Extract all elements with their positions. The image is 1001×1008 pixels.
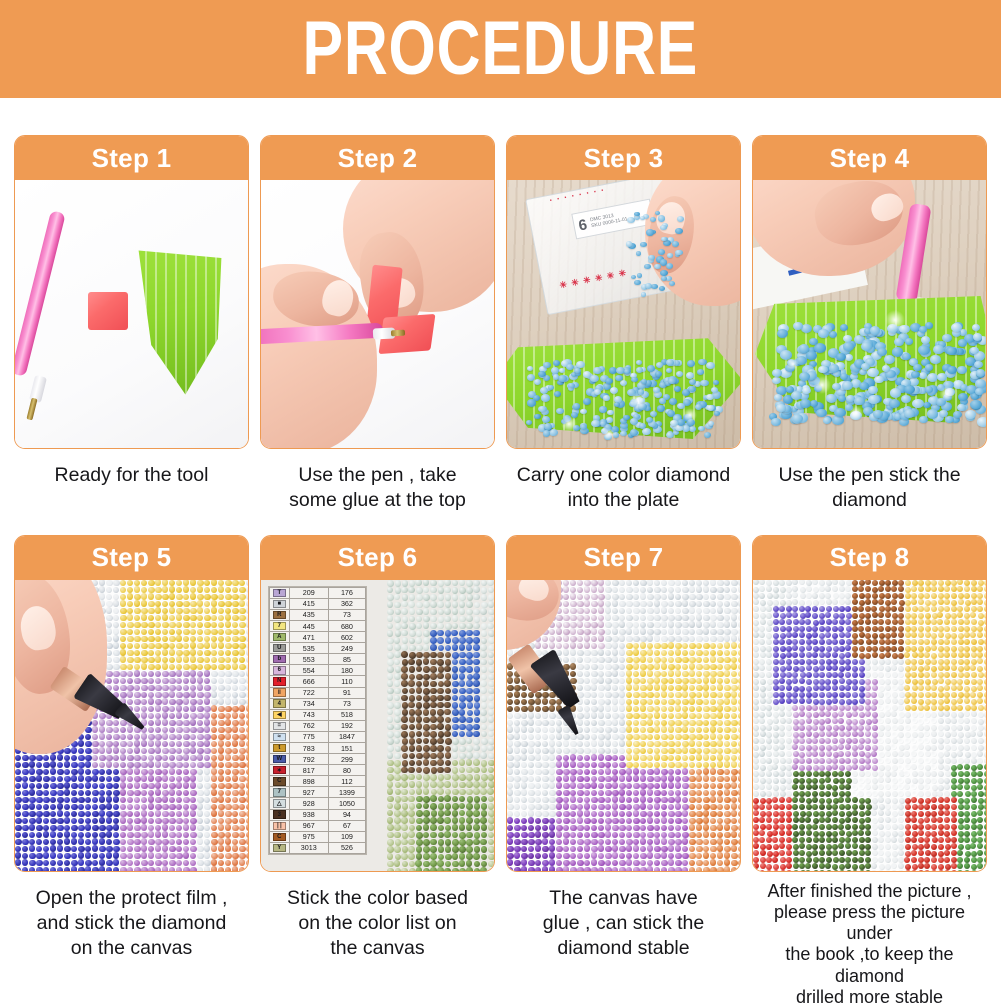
mosaic-bead <box>190 734 196 740</box>
mosaic-bead <box>806 665 812 671</box>
mosaic-bead <box>169 727 175 733</box>
mosaic-bead <box>50 804 56 810</box>
mosaic-bead <box>169 846 175 852</box>
mosaic-bead <box>826 665 832 671</box>
mosaic-bead <box>481 674 488 681</box>
mosaic-bead <box>689 762 695 768</box>
mosaic-bead <box>806 600 812 606</box>
mosaic-bead <box>416 825 423 832</box>
mosaic-bead <box>402 637 409 644</box>
mosaic-bead <box>71 755 77 761</box>
mosaic-bead <box>134 664 140 670</box>
mosaic-bead <box>169 649 175 655</box>
mosaic-bead <box>984 593 986 599</box>
mosaic-bead <box>710 621 716 627</box>
mosaic-bead <box>127 818 133 824</box>
mosaic-bead <box>71 783 77 789</box>
mosaic-bead <box>918 639 924 645</box>
mosaic-bead <box>598 586 604 592</box>
color-count-cell: 110 <box>328 676 365 687</box>
mosaic-bead <box>120 629 126 635</box>
mosaic-bead <box>218 853 224 859</box>
mosaic-bead <box>120 608 126 614</box>
mosaic-bead <box>452 717 459 724</box>
mosaic-bead <box>183 656 189 662</box>
mosaic-bead <box>127 755 133 761</box>
mosaic-bead <box>29 824 35 830</box>
mosaic-bead <box>773 646 779 652</box>
mosaic-bead <box>703 762 709 768</box>
mosaic-bead <box>445 630 452 637</box>
step-4-photo <box>753 180 986 448</box>
step-5-card-frame: Step 5 <box>14 535 249 872</box>
mosaic-bead <box>190 636 196 642</box>
mosaic-bead <box>710 846 716 852</box>
step-card-2: Step 2 Use the pen , take <box>260 135 495 514</box>
mosaic-bead <box>466 724 473 731</box>
mosaic-bead <box>918 659 924 665</box>
mosaic-bead <box>661 734 667 740</box>
mosaic-bead <box>162 775 168 781</box>
mosaic-bead <box>438 681 445 688</box>
diamond-bead <box>620 431 626 436</box>
mosaic-bead <box>155 629 161 635</box>
mosaic-bead <box>845 645 851 651</box>
mosaic-bead <box>438 803 445 810</box>
color-list-row: R43573 <box>270 609 366 620</box>
mosaic-bead <box>654 594 660 600</box>
mosaic-bead <box>773 580 779 586</box>
mosaic-bead <box>430 860 437 867</box>
mosaic-bead <box>549 699 555 705</box>
mosaic-bead <box>710 825 716 831</box>
mosaic-bead <box>724 615 730 621</box>
mosaic-bead <box>647 670 653 676</box>
mosaic-bead <box>141 852 147 858</box>
mosaic-bead <box>912 652 918 658</box>
mosaic-bead <box>612 670 618 676</box>
mosaic-bead <box>584 586 590 592</box>
mosaic-bead <box>633 587 639 593</box>
mosaic-bead <box>577 748 583 754</box>
mosaic-bead <box>29 811 35 817</box>
mosaic-bead <box>689 663 695 669</box>
mosaic-bead <box>408 601 415 608</box>
mosaic-bead <box>430 644 437 651</box>
mosaic-bead <box>113 594 119 600</box>
mosaic-bead <box>661 741 667 747</box>
mosaic-bead <box>211 825 217 831</box>
mosaic-bead <box>473 644 480 651</box>
mosaic-bead <box>753 613 759 619</box>
mosaic-bead <box>977 652 983 658</box>
mosaic-bead <box>717 636 723 642</box>
mosaic-bead <box>549 768 555 774</box>
mosaic-bead <box>176 790 182 796</box>
mosaic-bead <box>535 727 541 733</box>
mosaic-bead <box>169 818 175 824</box>
mosaic-bead <box>549 818 555 824</box>
mosaic-bead <box>738 671 740 677</box>
mosaic-bead <box>724 635 730 641</box>
mosaic-bead <box>162 831 168 837</box>
mosaic-bead <box>682 734 688 740</box>
mosaic-bead <box>127 783 133 789</box>
mosaic-bead <box>459 637 466 644</box>
mosaic-bead <box>239 649 245 655</box>
mosaic-bead <box>141 845 147 851</box>
mosaic-bead <box>430 716 437 723</box>
mosaic-bead <box>731 587 737 593</box>
color-list-row: ■415362 <box>270 598 366 609</box>
mosaic-bead <box>113 671 119 677</box>
mosaic-bead <box>155 664 161 670</box>
mosaic-bead <box>633 810 639 816</box>
mosaic-bead <box>521 762 527 768</box>
mosaic-bead <box>387 623 394 630</box>
mosaic-bead <box>633 706 639 712</box>
mosaic-bead <box>15 839 21 845</box>
mosaic-bead <box>204 734 210 740</box>
mosaic-bead <box>176 664 182 670</box>
mosaic-bead <box>633 825 639 831</box>
mosaic-bead <box>668 650 674 656</box>
mosaic-bead <box>401 781 408 788</box>
mosaic-bead <box>703 636 709 642</box>
mosaic-bead <box>612 727 618 733</box>
pen-tip-icon <box>391 330 405 337</box>
mosaic-bead <box>225 748 231 754</box>
mosaic-bead <box>786 652 792 658</box>
mosaic-bead <box>605 818 611 824</box>
mosaic-bead <box>64 825 70 831</box>
page-title: PROCEDURE <box>303 11 699 87</box>
mosaic-bead <box>430 846 437 853</box>
mosaic-bead <box>925 619 931 625</box>
mosaic-bead <box>865 580 871 586</box>
mosaic-bead <box>183 720 189 726</box>
mosaic-bead <box>141 699 147 705</box>
mosaic-bead <box>951 600 957 606</box>
mosaic-bead <box>696 832 702 838</box>
diamond-bead <box>832 383 841 390</box>
mosaic-bead <box>605 622 611 628</box>
mosaic-bead <box>654 818 660 824</box>
mosaic-bead <box>387 587 394 594</box>
mosaic-bead <box>556 831 562 837</box>
mosaic-bead <box>984 606 986 612</box>
mosaic-bead <box>825 632 831 638</box>
mosaic-bead <box>190 656 196 662</box>
mosaic-bead <box>197 600 203 606</box>
mosaic-bead <box>387 788 394 795</box>
mosaic-bead <box>148 678 154 684</box>
mosaic-bead <box>542 748 548 754</box>
mosaic-bead <box>481 594 488 601</box>
mosaic-bead <box>619 635 625 641</box>
mosaic-bead <box>459 652 466 659</box>
mosaic-bead <box>710 636 716 642</box>
mosaic-bead <box>570 608 576 614</box>
mosaic-bead <box>141 817 147 823</box>
mosaic-bead <box>535 845 541 851</box>
mosaic-bead <box>839 593 845 599</box>
mosaic-bead <box>225 797 231 803</box>
mosaic-bead <box>197 818 203 824</box>
mosaic-bead <box>619 601 625 607</box>
mosaic-bead <box>473 652 480 659</box>
mosaic-bead <box>466 738 473 745</box>
mosaic-bead <box>401 853 408 860</box>
diamond-bead <box>600 421 606 426</box>
mosaic-bead <box>605 811 611 817</box>
mosaic-bead <box>444 817 451 824</box>
mosaic-bead <box>162 719 168 725</box>
mosaic-bead <box>148 601 154 607</box>
mosaic-bead <box>647 741 653 747</box>
mosaic-bead <box>78 867 84 871</box>
mosaic-bead <box>865 619 871 625</box>
mosaic-bead <box>71 762 77 768</box>
mosaic-bead <box>924 652 930 658</box>
mosaic-bead <box>416 594 423 601</box>
steps-row-1: Step 1 Ready for the tool Step 2 <box>0 135 1001 514</box>
mosaic-bead <box>612 755 618 761</box>
mosaic-bead <box>696 692 702 698</box>
mosaic-bead <box>22 811 28 817</box>
mosaic-bead <box>481 602 488 609</box>
mosaic-bead <box>682 783 688 789</box>
mosaic-bead <box>661 804 667 810</box>
mosaic-bead <box>467 796 474 803</box>
mosaic-bead <box>473 630 480 637</box>
mosaic-bead <box>570 867 576 871</box>
mosaic-bead <box>155 747 161 753</box>
mosaic-bead <box>487 745 494 752</box>
mosaic-bead <box>724 741 730 747</box>
mosaic-bead <box>445 724 452 731</box>
bead-sparkle <box>849 406 863 420</box>
mosaic-bead <box>675 776 681 782</box>
mosaic-bead <box>612 698 618 704</box>
mosaic-bead <box>416 738 423 745</box>
mosaic-bead <box>731 755 737 761</box>
mosaic-bead <box>689 832 695 838</box>
mosaic-bead <box>452 580 459 586</box>
mosaic-bead <box>394 846 401 853</box>
mosaic-bead <box>556 797 562 803</box>
mosaic-bead <box>521 782 527 788</box>
mosaic-bead <box>162 733 168 739</box>
mosaic-bead <box>452 810 459 817</box>
mosaic-bead <box>570 671 576 677</box>
mosaic-bead <box>654 600 660 606</box>
mosaic-bead <box>507 783 513 789</box>
color-count-cell: 1847 <box>328 731 365 742</box>
mosaic-bead <box>612 741 618 747</box>
mosaic-bead <box>640 628 646 634</box>
mosaic-bead <box>197 867 203 871</box>
mosaic-bead <box>120 789 126 795</box>
mosaic-bead <box>452 587 459 594</box>
diamond-bead <box>666 359 674 366</box>
mosaic-bead <box>647 713 653 719</box>
mosaic-bead <box>689 804 695 810</box>
mosaic-bead <box>430 601 437 608</box>
mosaic-bead <box>944 606 950 612</box>
mosaic-bead <box>162 614 168 620</box>
mosaic-bead <box>696 614 702 620</box>
mosaic-bead <box>826 646 832 652</box>
mosaic-bead <box>459 580 466 586</box>
mosaic-bead <box>682 720 688 726</box>
mosaic-bead <box>971 606 977 612</box>
mosaic-bead <box>640 832 646 838</box>
mosaic-bead <box>800 593 806 599</box>
mosaic-bead <box>106 720 112 726</box>
mosaic-bead <box>127 678 133 684</box>
mosaic-bead <box>197 657 203 663</box>
mosaic-bead <box>633 762 639 768</box>
mosaic-bead <box>612 867 618 871</box>
mosaic-bead <box>605 671 611 677</box>
color-list-row: 473473 <box>270 698 366 709</box>
mosaic-bead <box>925 646 931 652</box>
mosaic-bead <box>885 652 891 658</box>
mosaic-bead <box>872 599 878 605</box>
mosaic-bead <box>78 762 84 768</box>
mosaic-bead <box>466 695 473 702</box>
mosaic-bead <box>134 825 140 831</box>
mosaic-bead <box>825 612 831 618</box>
mosaic-bead <box>239 839 245 845</box>
mosaic-bead <box>402 616 409 623</box>
mosaic-bead <box>964 593 970 599</box>
mosaic-bead <box>183 804 189 810</box>
mosaic-bead <box>155 601 161 607</box>
mosaic-bead <box>570 796 576 802</box>
color-list-row: 6554180 <box>270 665 366 676</box>
mosaic-bead <box>633 727 639 733</box>
mosaic-bead <box>423 702 430 709</box>
mosaic-bead <box>668 692 674 698</box>
mosaic-bead <box>759 586 765 592</box>
mosaic-bead <box>647 657 653 663</box>
mosaic-bead <box>239 734 245 740</box>
mosaic-bead <box>812 639 818 645</box>
mosaic-bead <box>444 831 451 838</box>
mosaic-bead <box>978 639 984 645</box>
mosaic-bead <box>591 790 597 796</box>
mosaic-bead <box>218 740 224 746</box>
mosaic-bead <box>148 636 154 642</box>
mosaic-bead <box>521 811 527 817</box>
mosaic-bead <box>710 748 716 754</box>
mosaic-bead <box>162 755 168 761</box>
mosaic-bead <box>211 594 217 600</box>
mosaic-bead <box>394 860 401 867</box>
mosaic-bead <box>106 727 112 733</box>
mosaic-bead <box>43 755 49 761</box>
mosaic-bead <box>563 860 569 866</box>
mosaic-bead <box>549 831 555 837</box>
mosaic-bead <box>43 769 49 775</box>
mosaic-bead <box>528 783 534 789</box>
mosaic-bead <box>839 586 845 592</box>
mosaic-bead <box>898 659 904 665</box>
mosaic-bead <box>535 790 541 796</box>
mosaic-bead <box>570 580 576 586</box>
mosaic-bead <box>197 643 203 649</box>
mosaic-bead <box>71 818 77 824</box>
mosaic-bead <box>605 733 611 739</box>
mosaic-bead <box>825 652 831 658</box>
mosaic-bead <box>944 599 950 605</box>
mosaic-bead <box>430 630 437 637</box>
mosaic-bead <box>416 753 423 760</box>
mosaic-bead <box>239 643 245 649</box>
mosaic-bead <box>675 832 681 838</box>
mosaic-bead <box>232 601 238 607</box>
mosaic-bead <box>826 659 832 665</box>
mosaic-bead <box>416 818 423 825</box>
mosaic-bead <box>211 636 217 642</box>
mosaic-bead <box>528 804 534 810</box>
mosaic-bead <box>444 767 451 774</box>
mosaic-bead <box>197 727 203 733</box>
diamond-bead <box>843 335 851 342</box>
mosaic-bead <box>724 776 730 782</box>
mosaic-bead <box>190 797 196 803</box>
mosaic-bead <box>416 674 423 681</box>
mosaic-bead <box>640 789 646 795</box>
mosaic-bead <box>15 769 21 775</box>
mosaic-bead <box>724 670 730 676</box>
mosaic-bead <box>113 678 119 684</box>
mosaic-bead <box>682 615 688 621</box>
mosaic-bead <box>661 825 667 831</box>
mosaic-bead <box>866 646 872 652</box>
mosaic-bead <box>682 860 688 866</box>
mosaic-bead <box>852 666 858 672</box>
mosaic-bead <box>647 852 653 858</box>
mosaic-bead <box>459 782 466 789</box>
mosaic-bead <box>845 632 851 638</box>
mosaic-bead <box>591 859 597 865</box>
mosaic-bead <box>766 652 772 658</box>
mosaic-bead <box>689 727 695 733</box>
mosaic-bead <box>898 606 904 612</box>
mosaic-bead <box>605 846 611 852</box>
mosaic-bead <box>779 619 785 625</box>
mosaic-bead <box>246 804 248 810</box>
mosaic-bead <box>155 789 161 795</box>
diamond-bead <box>708 421 714 426</box>
mosaic-bead <box>387 868 394 871</box>
step-6-caption: Stick the color based on the color list … <box>260 886 495 962</box>
mosaic-bead <box>696 727 702 733</box>
mosaic-bead <box>169 768 175 774</box>
mosaic-bead <box>731 734 737 740</box>
mosaic-bead <box>633 671 639 677</box>
mosaic-bead <box>832 619 838 625</box>
mosaic-bead <box>717 712 723 718</box>
mosaic-bead <box>481 616 488 623</box>
mosaic-bead <box>232 622 238 628</box>
mosaic-bead <box>514 790 520 796</box>
mosaic-bead <box>640 713 646 719</box>
mosaic-bead <box>204 642 210 648</box>
